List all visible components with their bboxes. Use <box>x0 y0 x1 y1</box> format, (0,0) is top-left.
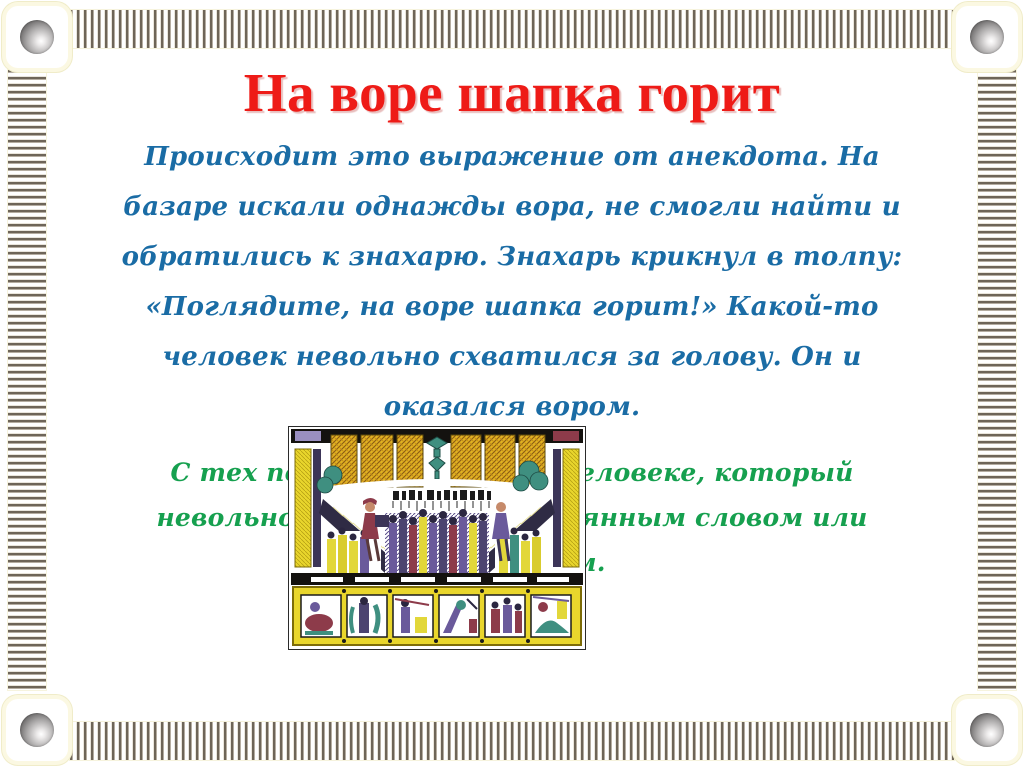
frame-band-left <box>8 70 46 690</box>
frame-band-right <box>978 70 1016 690</box>
story-paragraph: Происходит это выражение от анекдота. На… <box>92 132 932 432</box>
frame-band-top <box>70 10 954 48</box>
illustration-container <box>288 426 584 648</box>
rivet-icon <box>970 20 1004 54</box>
presentation-slide: На воре шапка горит Происходит это выраж… <box>0 0 1024 767</box>
rivet-icon <box>20 713 54 747</box>
frame-band-bottom <box>70 722 954 760</box>
rivet-icon <box>970 713 1004 747</box>
lubok-illustration <box>288 426 586 650</box>
rivet-icon <box>20 20 54 54</box>
slide-title: На воре шапка горит <box>58 62 966 124</box>
